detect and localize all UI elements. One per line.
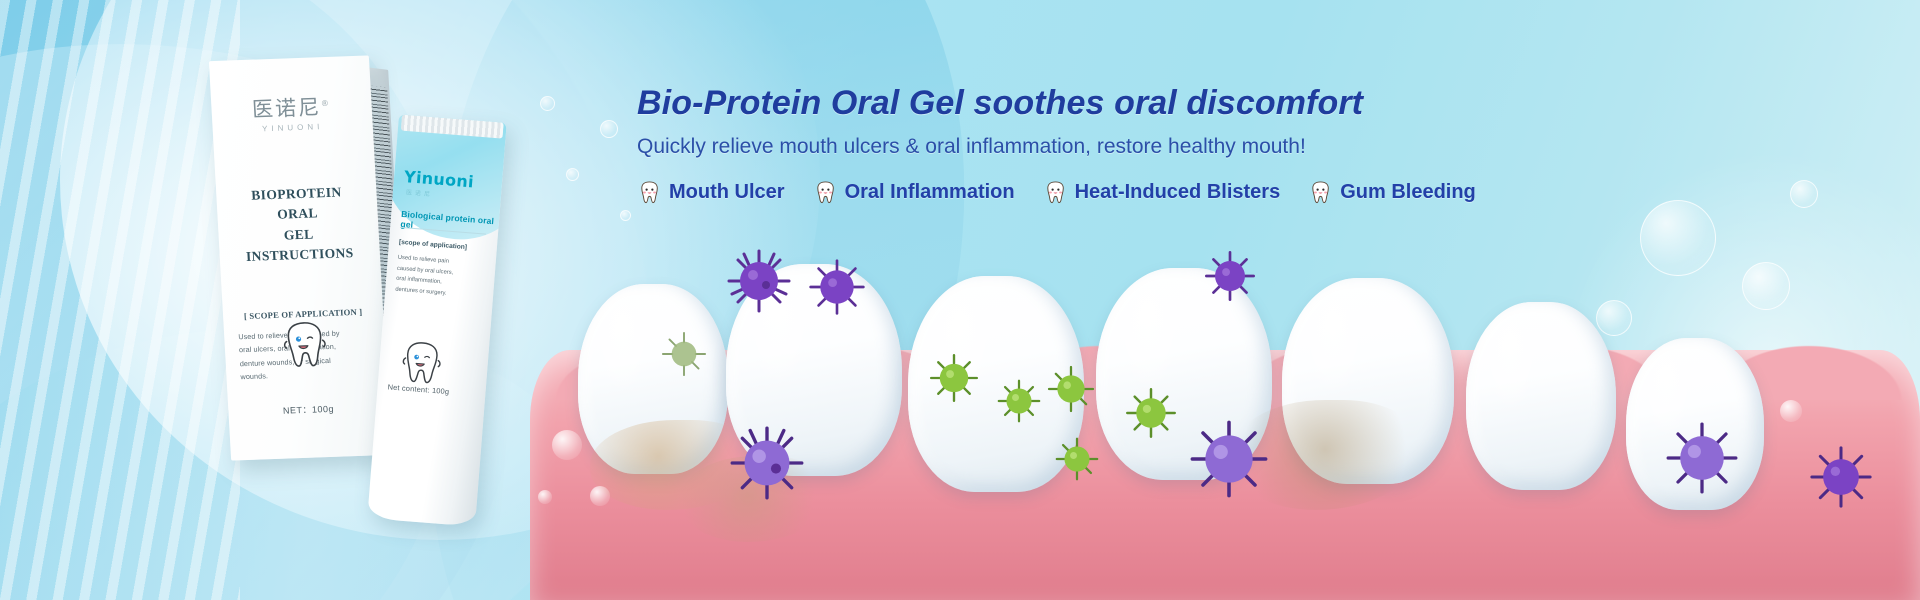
bubble-icon [620,210,631,221]
feature-badge-list: Mouth Ulcer Oral Inflammation [637,180,1457,205]
promo-banner: 医诺尼® YINUONI BIOPROTEIN ORAL GEL INSTRUC… [0,0,1920,600]
tooth-icon [813,180,838,205]
bacteria-purple-icon [1810,446,1872,513]
tooth-mascot-icon [281,318,328,377]
droplet-icon [552,430,582,460]
product-packaging: 医诺尼® YINUONI BIOPROTEIN ORAL GEL INSTRUC… [205,40,555,510]
banner-copy: Bio-Protein Oral Gel soothes oral discom… [637,84,1457,205]
bacteria-green-icon [1124,386,1178,445]
feature-badge-label: Gum Bleeding [1340,181,1476,204]
feature-badge-mouth-ulcer[interactable]: Mouth Ulcer [637,180,785,205]
box-brand-cn: 医诺尼® [225,90,359,125]
droplet-icon [1780,400,1802,422]
tooth-shape [1466,302,1616,490]
box-title: BIOPROTEIN ORAL GEL INSTRUCTIONS [230,182,366,268]
bacteria-purple-icon [1190,420,1268,503]
bubble-icon [566,168,579,181]
tooth-icon [1308,180,1333,205]
bacteria-purple-icon [808,258,866,321]
feature-badge-label: Mouth Ulcer [669,181,785,204]
tube-scope-heading: [scope of application] [399,239,467,251]
feature-badge-oral-inflammation[interactable]: Oral Inflammation [813,180,1015,205]
bacteria-green-icon [1054,436,1100,487]
feature-badge-label: Heat-Induced Blisters [1075,181,1281,204]
feature-badge-label: Oral Inflammation [845,181,1015,204]
bacteria-green-icon [928,352,980,409]
bubble-icon [1790,180,1818,208]
bacteria-purple-icon [730,426,804,505]
registered-mark-icon: ® [321,99,331,108]
box-brand-cn-text: 医诺尼 [251,95,321,121]
product-box: 医诺尼® YINUONI BIOPROTEIN ORAL GEL INSTRUC… [209,55,391,460]
bacteria-purple-icon [1666,422,1738,499]
tooth-icon [1043,180,1068,205]
droplet-icon [590,486,610,506]
bubble-icon [600,120,618,138]
feature-badge-gum-bleeding[interactable]: Gum Bleeding [1308,180,1476,205]
tooth-mascot-icon [399,337,443,393]
bacteria-green-icon [1046,364,1096,419]
teeth-and-gums-illustration [530,250,1920,600]
bacteria-green-icon [996,378,1042,429]
bacteria-purple-icon [1204,250,1256,307]
box-title-line1: BIOPROTEIN ORAL [230,182,364,227]
tooth-icon [637,180,662,205]
page-title: Bio-Protein Oral Gel soothes oral discom… [637,84,1457,123]
background-stripes [0,0,240,600]
tube-body-text: Used to relieve pain caused by oral ulce… [395,253,482,302]
droplet-icon [538,490,552,504]
page-subtitle: Quickly relieve mouth ulcers & oral infl… [637,135,1457,159]
bacteria-green-icon [660,330,708,383]
box-net-weight: NET：100g [228,400,389,419]
feature-badge-heat-induced-blisters[interactable]: Heat-Induced Blisters [1043,180,1281,205]
bacteria-purple-icon [726,248,792,319]
box-title-line2: GEL INSTRUCTIONS [232,222,366,267]
